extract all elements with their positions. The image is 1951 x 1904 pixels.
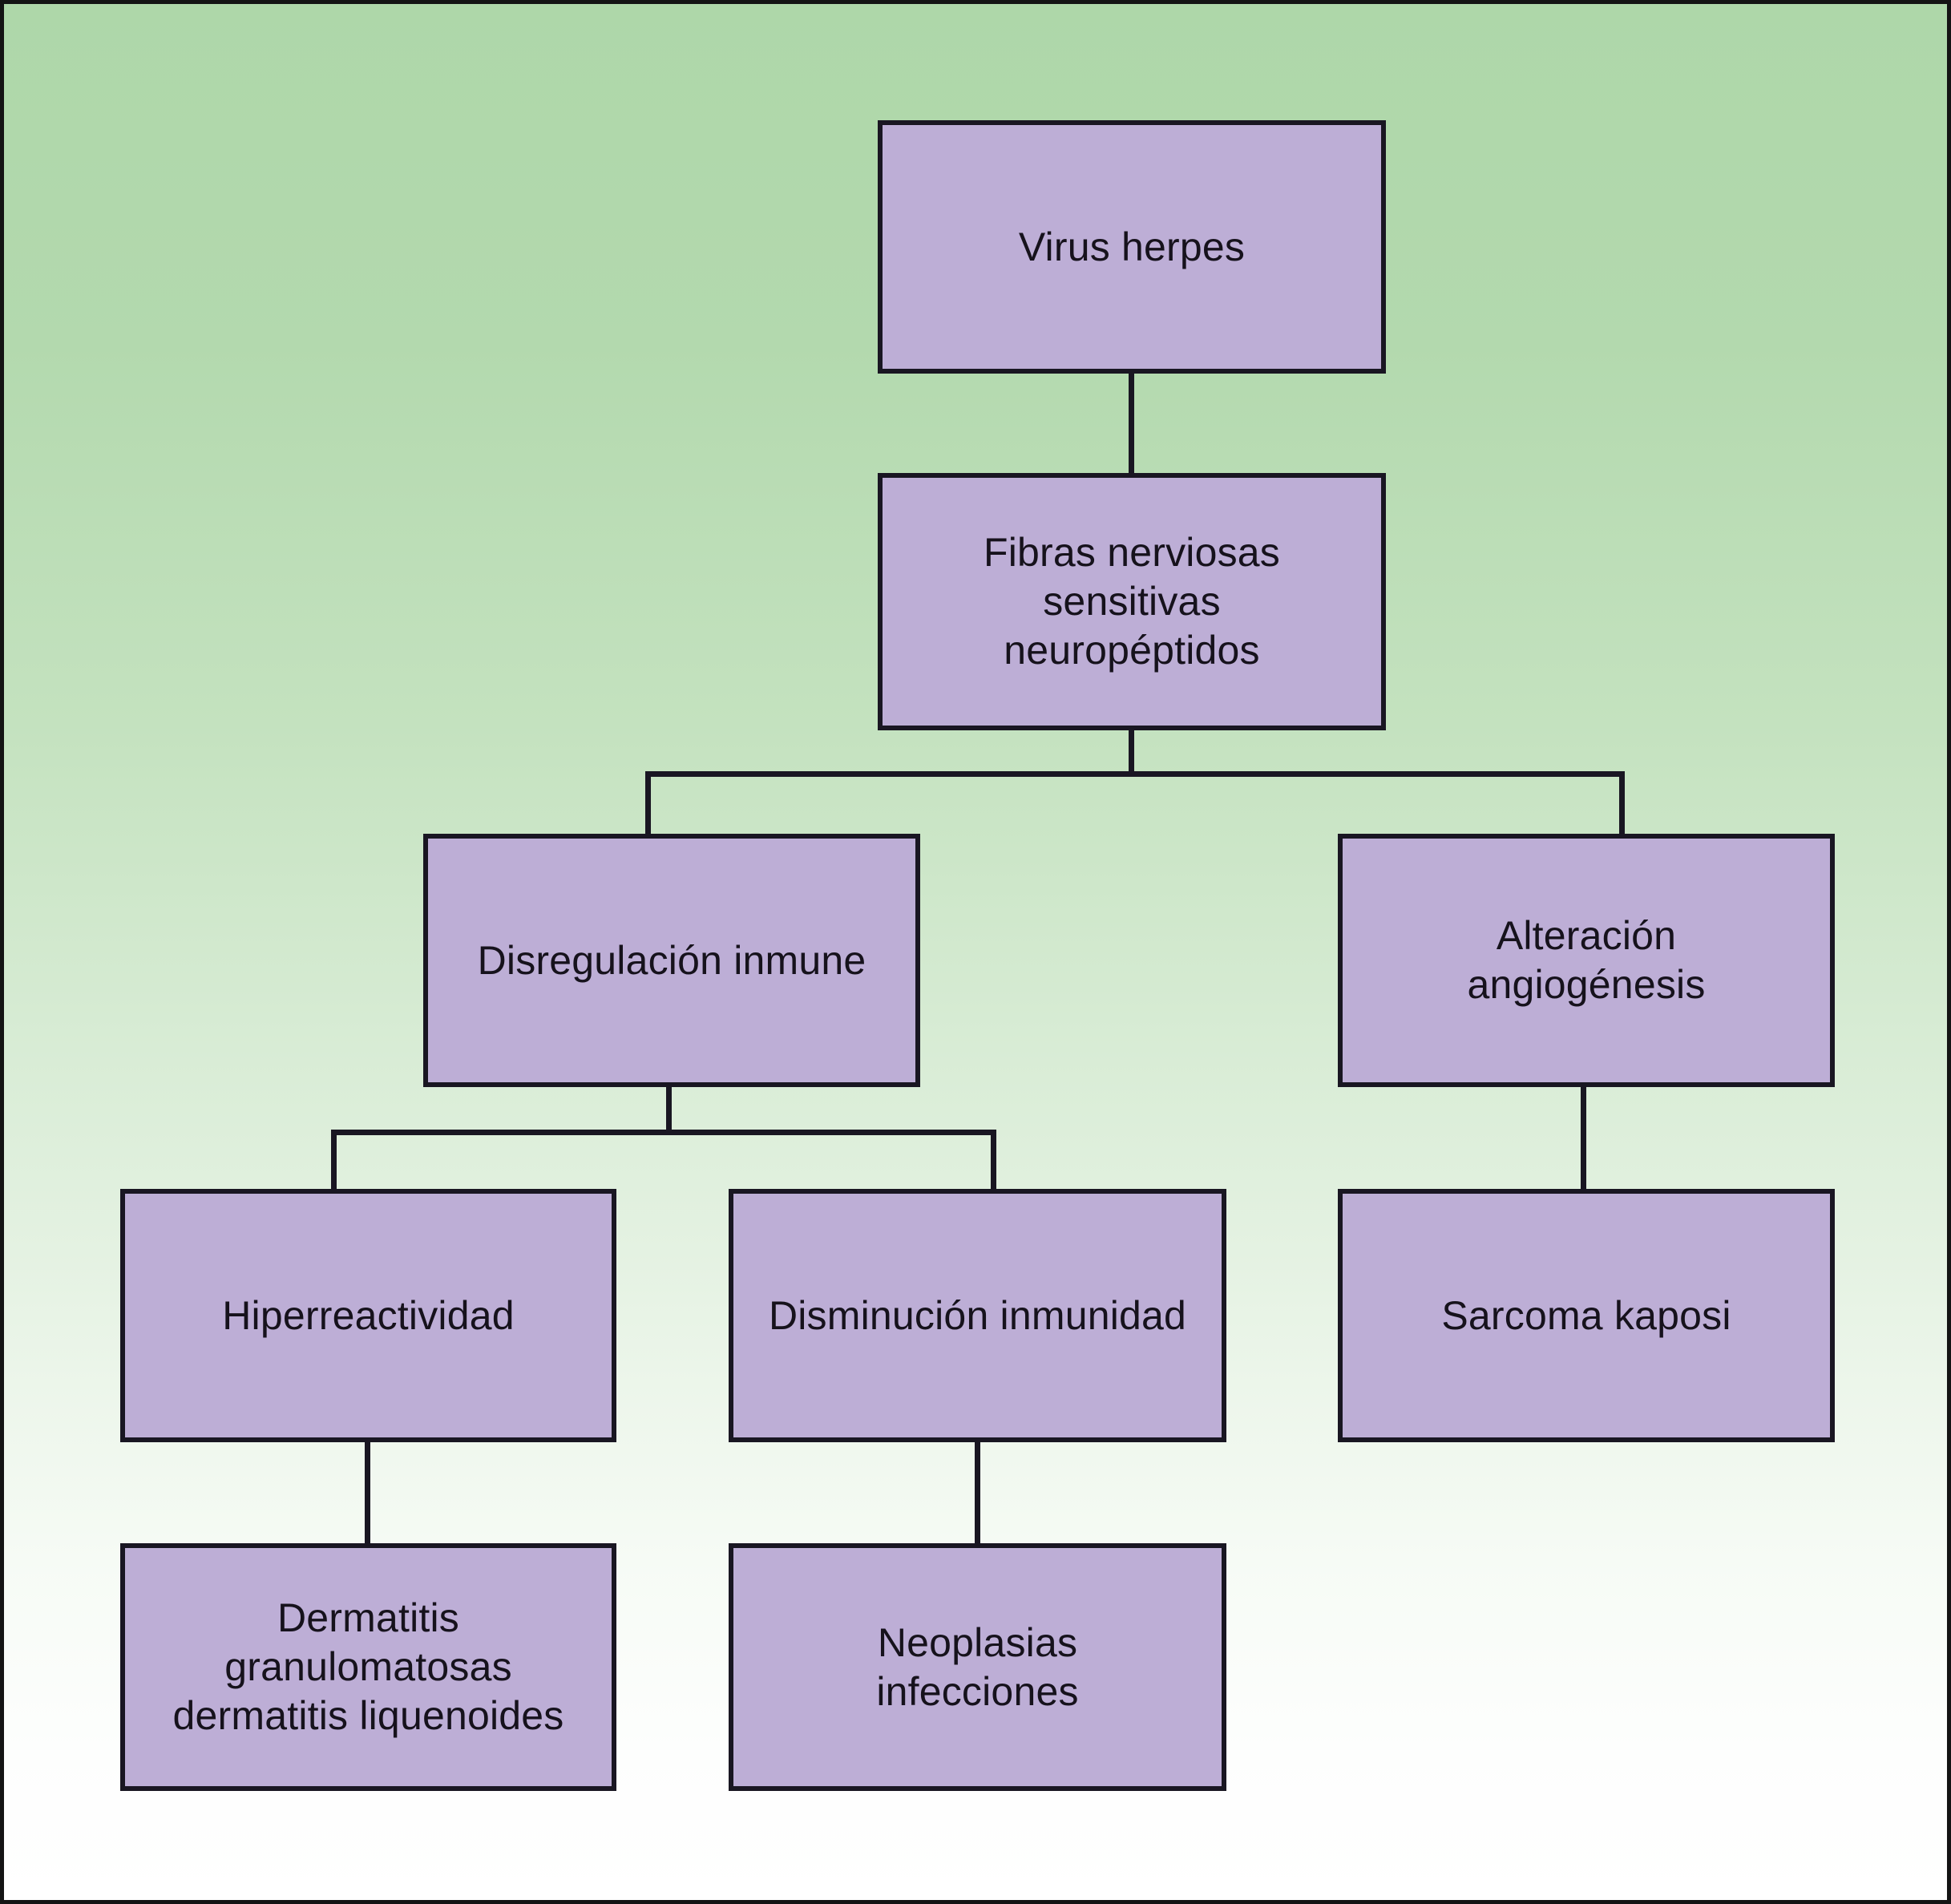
edge-virus-herpes-to-fibras <box>1129 371 1134 475</box>
node-label-sarcoma: Sarcoma kaposi <box>1343 1292 1830 1340</box>
edge-disregulacion-drop <box>666 1085 672 1134</box>
edge-alteracion-to-sarcoma <box>1581 1085 1586 1194</box>
node-label-disregulacion: Disregulación inmune <box>428 936 915 985</box>
node-label-neoplasias: Neoplasias infecciones <box>733 1619 1222 1716</box>
node-label-fibras: Fibras nerviosas sensitivas neuropéptido… <box>883 528 1381 675</box>
edge-disregulacion-split-bar <box>331 1130 996 1135</box>
edge-disregulacion-to-hiperreactividad <box>331 1130 337 1194</box>
node-dermatitis-granulomatosas-liquenoides[interactable]: Dermatitis granulomatosas dermatitis liq… <box>120 1543 616 1791</box>
edge-fibras-to-disregulacion <box>645 771 651 837</box>
edge-fibras-drop <box>1129 728 1134 776</box>
flowchart-canvas: Virus herpes Fibras nerviosas sensitivas… <box>0 0 1951 1904</box>
node-label-hiperreactividad: Hiperreactividad <box>125 1292 612 1340</box>
node-hiperreactividad[interactable]: Hiperreactividad <box>120 1189 616 1442</box>
edge-fibras-split-bar <box>645 771 1625 777</box>
edge-disminucion-to-neoplasias <box>975 1440 980 1546</box>
node-disminucion-inmunidad[interactable]: Disminución inmunidad <box>729 1189 1226 1442</box>
node-label-virus-herpes: Virus herpes <box>883 223 1381 272</box>
node-sarcoma-kaposi[interactable]: Sarcoma kaposi <box>1338 1189 1835 1442</box>
node-fibras-nerviosas-sensitivas-neuropeptidos[interactable]: Fibras nerviosas sensitivas neuropéptido… <box>878 473 1386 730</box>
node-virus-herpes[interactable]: Virus herpes <box>878 120 1386 374</box>
node-label-dermatitis: Dermatitis granulomatosas dermatitis liq… <box>125 1594 612 1740</box>
node-label-alteracion: Alteración angiogénesis <box>1343 912 1830 1009</box>
edge-hiperreactividad-to-dermatitis <box>365 1440 370 1546</box>
node-label-disminucion: Disminución inmunidad <box>733 1292 1222 1340</box>
node-alteracion-angiogenesis[interactable]: Alteración angiogénesis <box>1338 834 1835 1087</box>
node-neoplasias-infecciones[interactable]: Neoplasias infecciones <box>729 1543 1226 1791</box>
edge-fibras-to-alteracion <box>1619 771 1625 837</box>
node-disregulacion-inmune[interactable]: Disregulación inmune <box>423 834 920 1087</box>
edge-disregulacion-to-disminucion <box>991 1130 996 1194</box>
